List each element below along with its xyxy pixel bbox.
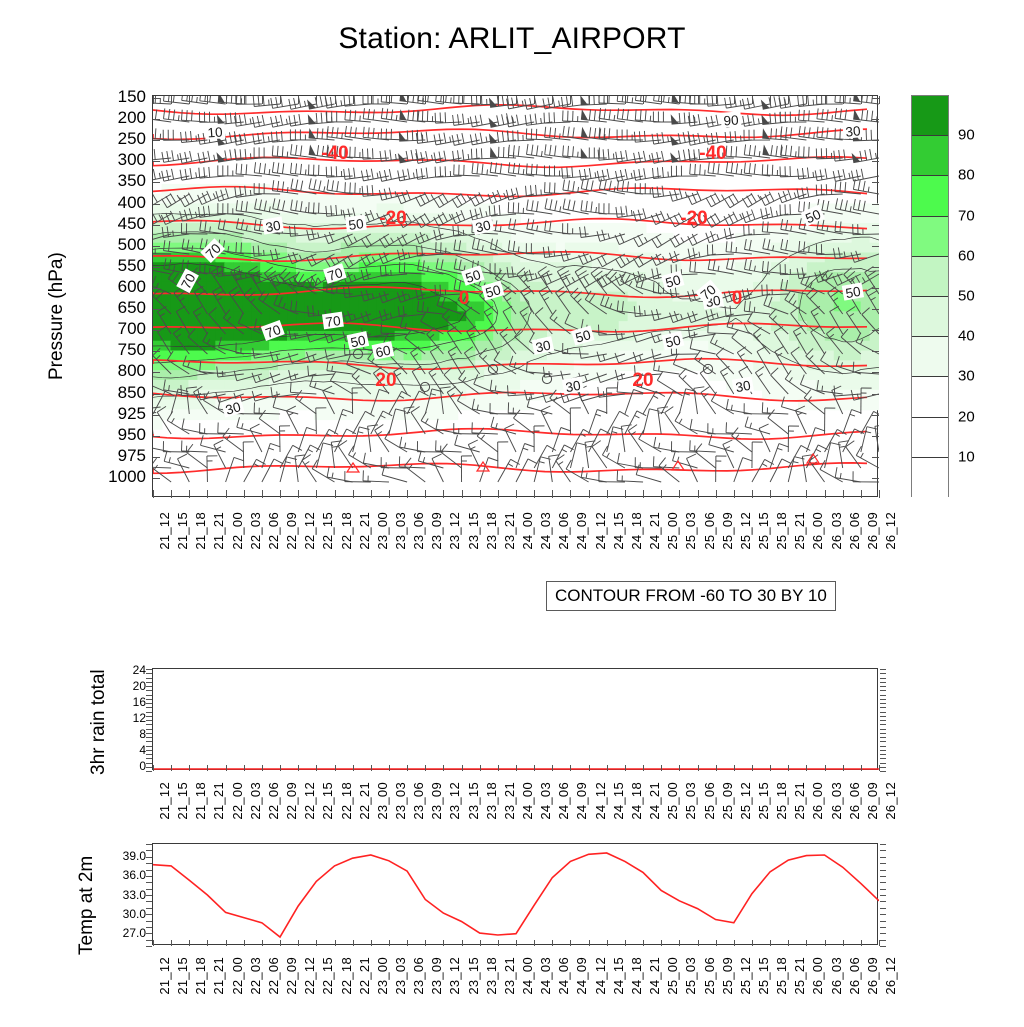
main-y-tick-750: 750 (118, 340, 146, 360)
axis-tick (806, 940, 807, 946)
axis-tick (335, 490, 336, 498)
axis-tick (226, 940, 227, 946)
axis-tick (880, 940, 886, 941)
rain-y-tick-12: 12 (133, 711, 146, 725)
axis-tick (153, 267, 160, 268)
axis-tick (679, 940, 680, 946)
axis-tick (843, 940, 844, 946)
axis-tick (207, 765, 208, 771)
axis-tick (880, 741, 886, 742)
axis-tick (153, 415, 160, 416)
x-tick-23_09: 23_09 (429, 782, 444, 820)
axis-tick (146, 763, 152, 764)
axis-tick (146, 729, 152, 730)
axis-tick (880, 857, 886, 858)
x-tick-21_15: 21_15 (175, 782, 190, 820)
axis-tick (716, 940, 717, 946)
axis-tick (880, 850, 886, 851)
x-tick-22_12: 22_12 (302, 512, 317, 550)
axis-tick (679, 96, 680, 104)
axis-tick (146, 746, 152, 747)
rain-y-tick-0: 0 (139, 759, 146, 773)
x-tick-22_15: 22_15 (320, 957, 335, 995)
temp-y-tick-30.0: 30.0 (123, 907, 146, 921)
axis-tick (880, 763, 886, 764)
x-tick-24_18: 24_18 (629, 512, 644, 550)
main-y-tick-500: 500 (118, 235, 146, 255)
axis-tick (146, 724, 152, 725)
x-tick-22_03: 22_03 (248, 782, 263, 820)
x-tick-21_18: 21_18 (193, 512, 208, 550)
colorbar-band-5[interactable] (912, 297, 948, 337)
axis-tick (425, 490, 426, 498)
axis-tick (146, 703, 152, 704)
axis-tick (207, 490, 208, 498)
axis-tick (153, 436, 160, 437)
axis-tick (880, 690, 886, 691)
axis-tick (698, 940, 699, 946)
main-y-tick-200: 200 (118, 108, 146, 128)
x-tick-22_00: 22_00 (230, 512, 245, 550)
x-tick-22_12: 22_12 (302, 782, 317, 820)
temp-panel-x-tick-labels: 21_1221_1521_1821_2122_0022_0322_0622_09… (152, 957, 878, 1027)
axis-tick (679, 765, 680, 771)
pressure-time-cross-section-plot[interactable]: -40-40-20-200020201090305070707030505070… (152, 95, 878, 497)
axis-tick (607, 96, 608, 104)
x-tick-25_21: 25_21 (792, 957, 807, 995)
axis-tick (389, 765, 390, 771)
axis-tick (516, 490, 517, 498)
colorbar-band-7[interactable] (912, 377, 948, 417)
axis-tick (171, 940, 172, 946)
x-tick-23_15: 23_15 (466, 957, 481, 995)
axis-tick (880, 746, 886, 747)
x-tick-23_21: 23_21 (502, 957, 517, 995)
axis-tick (625, 96, 626, 104)
axis-tick (679, 490, 680, 498)
x-tick-26_06: 26_06 (847, 782, 862, 820)
colorbar-tick-80: 80 (958, 167, 975, 184)
axis-tick (734, 490, 735, 498)
x-tick-26_06: 26_06 (847, 512, 862, 550)
x-tick-22_18: 22_18 (339, 512, 354, 550)
axis-tick (146, 767, 152, 768)
axis-tick (788, 765, 789, 771)
axis-tick (226, 490, 227, 498)
x-tick-24_12: 24_12 (593, 512, 608, 550)
x-tick-25_03: 25_03 (683, 782, 698, 820)
temperature-series-canvas (153, 844, 879, 946)
x-tick-23_18: 23_18 (484, 512, 499, 550)
main-y-tick-300: 300 (118, 150, 146, 170)
axis-tick (353, 490, 354, 498)
x-tick-24_06: 24_06 (556, 957, 571, 995)
x-tick-25_00: 25_00 (665, 782, 680, 820)
colorbar-tick-40: 40 (958, 328, 975, 345)
x-tick-22_09: 22_09 (284, 782, 299, 820)
axis-tick (880, 699, 886, 700)
x-tick-23_06: 23_06 (411, 512, 426, 550)
axis-tick (534, 490, 535, 498)
temp-y-tick-33.0: 33.0 (123, 888, 146, 902)
main-y-tick-800: 800 (118, 361, 146, 381)
x-tick-23_00: 23_00 (375, 782, 390, 820)
axis-tick (552, 96, 553, 104)
rain-total-plot[interactable] (152, 668, 878, 770)
axis-tick (570, 96, 571, 104)
axis-tick (146, 940, 152, 941)
x-tick-25_09: 25_09 (720, 957, 735, 995)
axis-tick (407, 940, 408, 946)
axis-tick (407, 490, 408, 498)
x-tick-22_21: 22_21 (357, 957, 372, 995)
main-y-tick-650: 650 (118, 298, 146, 318)
axis-tick (146, 686, 152, 687)
axis-tick (244, 96, 245, 104)
main-y-tick-350: 350 (118, 171, 146, 191)
x-tick-25_00: 25_00 (665, 512, 680, 550)
axis-tick (625, 490, 626, 498)
x-tick-22_15: 22_15 (320, 512, 335, 550)
axis-tick (262, 490, 263, 498)
axis-tick (443, 490, 444, 498)
rain-panel-x-tick-labels: 21_1221_1521_1821_2122_0022_0322_0622_09… (152, 782, 878, 852)
axis-tick (462, 96, 463, 104)
axis-tick (880, 844, 886, 845)
x-tick-22_09: 22_09 (284, 512, 299, 550)
axis-tick (534, 765, 535, 771)
sounding-time-series-figure: Station: ARLIT_AIRPORT Pressure (hPa) 15… (0, 0, 1024, 1024)
axis-tick (861, 96, 862, 104)
main-y-tick-550: 550 (118, 256, 146, 276)
colorbar-band-0[interactable] (912, 96, 948, 136)
axis-tick (153, 161, 160, 162)
axis-tick (498, 96, 499, 104)
x-tick-23_03: 23_03 (393, 512, 408, 550)
axis-tick (480, 940, 481, 946)
axis-tick (389, 490, 390, 498)
axis-tick (443, 765, 444, 771)
x-tick-24_12: 24_12 (593, 957, 608, 995)
axis-tick (146, 733, 152, 734)
x-tick-25_18: 25_18 (774, 957, 789, 995)
axis-tick (880, 703, 886, 704)
axis-tick (262, 940, 263, 946)
x-tick-26_00: 26_00 (810, 957, 825, 995)
x-tick-21_21: 21_21 (211, 782, 226, 820)
axis-tick (189, 940, 190, 946)
axis-tick (207, 96, 208, 104)
colorbar-tick-50: 50 (958, 288, 975, 305)
axis-tick (880, 870, 886, 871)
main-y-tick-850: 850 (118, 383, 146, 403)
axis-tick (880, 914, 886, 915)
axis-tick (872, 225, 879, 226)
x-tick-26_12: 26_12 (883, 782, 898, 820)
axis-tick (153, 182, 160, 183)
axis-tick (146, 699, 152, 700)
x-tick-21_18: 21_18 (193, 782, 208, 820)
axis-tick (872, 161, 879, 162)
main-y-tick-700: 700 (118, 319, 146, 339)
axis-tick (146, 933, 152, 934)
temperature-2m-plot[interactable] (152, 843, 878, 945)
temp-y-tick-36.0: 36.0 (123, 868, 146, 882)
axis-tick (280, 96, 281, 104)
figure-title: Station: ARLIT_AIRPORT (0, 22, 1024, 56)
axis-tick (462, 765, 463, 771)
axis-tick (880, 669, 886, 670)
axis-tick (880, 863, 886, 864)
axis-tick (661, 96, 662, 104)
axis-tick (146, 901, 152, 902)
x-tick-25_15: 25_15 (756, 782, 771, 820)
axis-tick (516, 765, 517, 771)
main-panel-x-tick-labels: 21_1221_1521_1821_2122_0022_0322_0622_09… (152, 512, 878, 582)
axis-tick (298, 765, 299, 771)
colorbar-band-8[interactable] (912, 418, 948, 458)
axis-tick (734, 940, 735, 946)
main-y-tick-600: 600 (118, 277, 146, 297)
x-tick-24_00: 24_00 (520, 782, 535, 820)
x-tick-25_00: 25_00 (665, 957, 680, 995)
temp-panel-y-tick-labels: 39.036.033.030.027.0 (92, 843, 146, 945)
main-y-tick-975: 975 (118, 446, 146, 466)
axis-tick (480, 490, 481, 498)
axis-tick (880, 754, 886, 755)
axis-tick (153, 457, 160, 458)
axis-tick (880, 758, 886, 759)
axis-tick (552, 765, 553, 771)
axis-tick (153, 765, 154, 771)
x-tick-24_03: 24_03 (538, 782, 553, 820)
axis-tick (146, 857, 152, 858)
x-tick-25_12: 25_12 (738, 512, 753, 550)
x-tick-24_18: 24_18 (629, 782, 644, 820)
axis-tick (770, 490, 771, 498)
x-tick-23_12: 23_12 (447, 957, 462, 995)
x-tick-26_12: 26_12 (883, 957, 898, 995)
x-tick-24_21: 24_21 (647, 782, 662, 820)
axis-tick (425, 940, 426, 946)
axis-tick (698, 96, 699, 104)
colorbar-tick-70: 70 (958, 207, 975, 224)
axis-tick (880, 889, 886, 890)
x-tick-23_15: 23_15 (466, 512, 481, 550)
x-tick-24_09: 24_09 (574, 957, 589, 995)
axis-tick (280, 765, 281, 771)
axis-tick (880, 901, 886, 902)
x-tick-23_03: 23_03 (393, 957, 408, 995)
colorbar-band-9[interactable] (912, 458, 948, 498)
axis-tick (643, 96, 644, 104)
x-tick-24_15: 24_15 (611, 782, 626, 820)
axis-tick (734, 96, 735, 104)
axis-tick (843, 96, 844, 104)
main-y-tick-250: 250 (118, 129, 146, 149)
colorbar-tick-10: 10 (958, 448, 975, 465)
x-tick-21_12: 21_12 (157, 782, 172, 820)
axis-tick (825, 490, 826, 498)
axis-tick (872, 267, 879, 268)
axis-tick (146, 921, 152, 922)
axis-tick (280, 490, 281, 498)
axis-tick (570, 765, 571, 771)
axis-tick (153, 204, 160, 205)
axis-tick (698, 490, 699, 498)
x-tick-24_21: 24_21 (647, 957, 662, 995)
axis-tick (880, 921, 886, 922)
axis-tick (353, 940, 354, 946)
x-tick-23_03: 23_03 (393, 782, 408, 820)
main-y-tick-1000: 1000 (108, 467, 146, 487)
axis-tick (880, 946, 886, 947)
axis-tick (788, 96, 789, 104)
axis-tick (153, 98, 160, 99)
colorbar-tick-20: 20 (958, 408, 975, 425)
axis-tick (146, 669, 152, 670)
axis-tick (353, 765, 354, 771)
x-tick-22_03: 22_03 (248, 512, 263, 550)
axis-tick (226, 96, 227, 104)
x-tick-26_03: 26_03 (829, 782, 844, 820)
rain-series-canvas (153, 669, 879, 771)
axis-tick (880, 771, 886, 772)
x-tick-24_09: 24_09 (574, 782, 589, 820)
axis-tick (153, 330, 160, 331)
axis-tick (752, 96, 753, 104)
axis-tick (806, 96, 807, 104)
contour-range-caption: CONTOUR FROM -60 TO 30 BY 10 (546, 581, 836, 611)
x-tick-22_06: 22_06 (266, 957, 281, 995)
axis-tick (880, 737, 886, 738)
rain-y-tick-8: 8 (139, 727, 146, 741)
x-tick-22_09: 22_09 (284, 957, 299, 995)
axis-tick (825, 96, 826, 104)
axis-tick (146, 690, 152, 691)
axis-tick (389, 940, 390, 946)
axis-tick (552, 490, 553, 498)
axis-tick (146, 850, 152, 851)
axis-tick (153, 225, 160, 226)
axis-tick (880, 729, 886, 730)
axis-tick (146, 771, 152, 772)
x-tick-22_18: 22_18 (339, 782, 354, 820)
axis-tick (425, 765, 426, 771)
axis-tick (880, 767, 886, 768)
x-tick-24_15: 24_15 (611, 512, 626, 550)
axis-tick (425, 96, 426, 104)
axis-tick (189, 490, 190, 498)
axis-tick (880, 682, 886, 683)
colorbar-band-6[interactable] (912, 337, 948, 377)
x-tick-23_12: 23_12 (447, 782, 462, 820)
x-tick-23_12: 23_12 (447, 512, 462, 550)
colorbar-band-4[interactable] (912, 257, 948, 297)
axis-tick (498, 940, 499, 946)
axis-tick (880, 927, 886, 928)
colorbar-band-3[interactable] (912, 217, 948, 257)
axis-tick (207, 940, 208, 946)
axis-tick (371, 96, 372, 104)
axis-tick (880, 876, 886, 877)
axis-tick (146, 758, 152, 759)
axis-tick (335, 940, 336, 946)
x-tick-22_03: 22_03 (248, 957, 263, 995)
axis-tick (872, 98, 879, 99)
axis-tick (146, 914, 152, 915)
axis-tick (146, 908, 152, 909)
axis-tick (153, 940, 154, 946)
x-tick-23_09: 23_09 (429, 957, 444, 995)
x-tick-24_00: 24_00 (520, 957, 535, 995)
axis-tick (752, 490, 753, 498)
x-tick-25_21: 25_21 (792, 512, 807, 550)
x-tick-24_15: 24_15 (611, 957, 626, 995)
x-tick-26_00: 26_00 (810, 512, 825, 550)
axis-tick (825, 765, 826, 771)
x-tick-24_21: 24_21 (647, 512, 662, 550)
colorbar-band-2[interactable] (912, 176, 948, 216)
axis-tick (146, 889, 152, 890)
x-tick-23_15: 23_15 (466, 782, 481, 820)
x-tick-26_09: 26_09 (865, 512, 880, 550)
axis-tick (872, 309, 879, 310)
axis-tick (146, 712, 152, 713)
colorbar-tick-30: 30 (958, 368, 975, 385)
axis-tick (570, 940, 571, 946)
x-tick-22_00: 22_00 (230, 957, 245, 995)
x-tick-25_18: 25_18 (774, 512, 789, 550)
axis-tick (389, 96, 390, 104)
colorbar-band-1[interactable] (912, 136, 948, 176)
x-tick-23_00: 23_00 (375, 512, 390, 550)
axis-tick (146, 716, 152, 717)
axis-tick (516, 96, 517, 104)
axis-tick (371, 765, 372, 771)
x-tick-22_12: 22_12 (302, 957, 317, 995)
x-tick-24_12: 24_12 (593, 782, 608, 820)
axis-tick (153, 288, 160, 289)
relative-humidity-colorbar[interactable] (911, 95, 949, 497)
axis-tick (880, 733, 886, 734)
x-tick-24_06: 24_06 (556, 782, 571, 820)
axis-tick (872, 140, 879, 141)
axis-tick (643, 490, 644, 498)
axis-tick (872, 119, 879, 120)
x-tick-25_12: 25_12 (738, 782, 753, 820)
axis-tick (716, 490, 717, 498)
axis-tick (298, 96, 299, 104)
axis-tick (316, 940, 317, 946)
x-tick-25_06: 25_06 (702, 782, 717, 820)
axis-tick (153, 394, 160, 395)
axis-tick (146, 895, 152, 896)
axis-tick (146, 876, 152, 877)
x-tick-22_06: 22_06 (266, 782, 281, 820)
axis-tick (879, 96, 880, 104)
x-tick-26_03: 26_03 (829, 512, 844, 550)
axis-tick (880, 686, 886, 687)
axis-tick (625, 765, 626, 771)
x-tick-26_09: 26_09 (865, 782, 880, 820)
axis-tick (570, 490, 571, 498)
x-tick-21_12: 21_12 (157, 512, 172, 550)
axis-tick (371, 940, 372, 946)
axis-tick (146, 844, 152, 845)
axis-tick (153, 478, 160, 479)
axis-tick (280, 940, 281, 946)
